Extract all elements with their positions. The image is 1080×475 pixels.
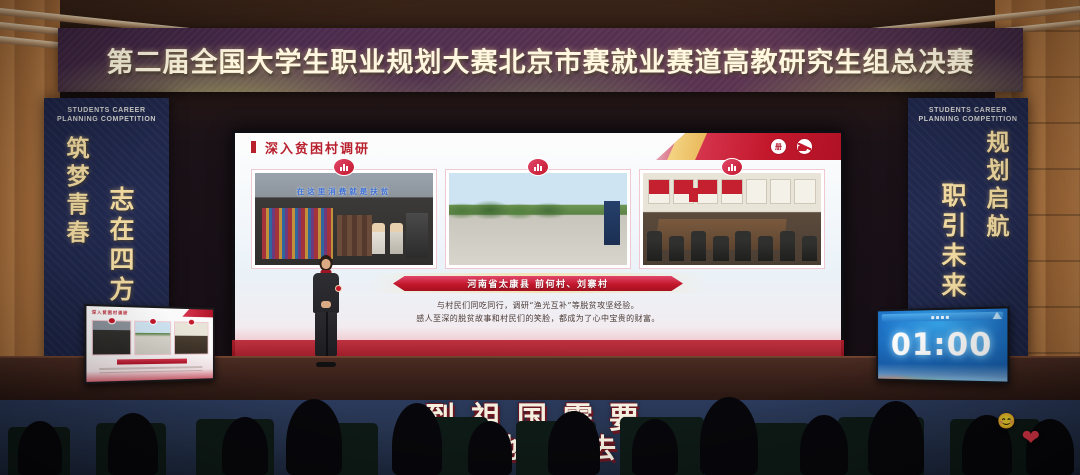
slide-location-ribbon: 河南省太康县 前何村、刘寨村	[393, 276, 683, 291]
slide-title: 深入贫困村调研	[265, 138, 370, 157]
presenter-number-badge	[335, 285, 342, 292]
side-banner-left-english-line1: STUDENTS CAREER	[44, 106, 169, 115]
side-banner-left-english: STUDENTS CAREER PLANNING COMPETITION	[44, 106, 169, 125]
side-banner-left-phrase-b: 志在四方	[102, 186, 138, 306]
confidence-monitor-ribbon	[117, 359, 187, 365]
side-banner-right-english-line1: STUDENTS CAREER	[908, 106, 1028, 115]
countdown-timer-value: 01:00	[878, 326, 1007, 364]
village-shop-photo-overlay: 在这里消费就是扶贫	[255, 186, 433, 197]
smiling-face-emoji-icon: 😊	[997, 414, 1016, 429]
side-banner-right-english: STUDENTS CAREER PLANNING COMPETITION	[908, 106, 1028, 125]
audience-silhouettes	[0, 370, 1080, 475]
slide-header: 册 深入贫困村调研	[235, 133, 841, 159]
university-seal-glyph: 册	[775, 142, 782, 152]
university-swoosh-logo	[796, 138, 813, 155]
side-banner-right-english-line2: PLANNING COMPETITION	[908, 115, 1028, 124]
confidence-photo-3	[174, 321, 209, 354]
confidence-monitor-photos	[92, 320, 209, 356]
side-banner-right-phrase-b: 职引未来	[934, 182, 970, 302]
heart-emoji-icon: ❤	[1022, 427, 1040, 449]
side-banner-left-phrase-a: 筑梦青春	[58, 136, 92, 248]
chart-badge-icon	[188, 319, 195, 326]
slide-photo-row: 在这里消费就是扶贫	[251, 169, 825, 269]
presenter-trousers	[315, 312, 337, 356]
university-seal-logo: 册	[770, 138, 787, 155]
confidence-photo-1	[92, 320, 131, 356]
chart-badge-icon	[721, 158, 743, 176]
event-title-banner: 第二届全国大学生职业规划大赛北京市赛就业赛道高教研究生组总决赛	[58, 28, 1023, 92]
slide-photo-card: 在这里消费就是扶贫	[251, 169, 437, 269]
slide-photo-card	[445, 169, 631, 269]
slide-header-ribbon	[656, 133, 841, 160]
event-title-text: 第二届全国大学生职业规划大赛北京市赛就业赛道高教研究生组总决赛	[58, 41, 1023, 80]
confidence-monitor-title: 深入贫困村调研	[92, 309, 128, 316]
chart-badge-icon	[108, 317, 116, 324]
presenter-speaker	[305, 255, 347, 363]
chart-badge-icon	[149, 318, 157, 325]
chart-badge-icon	[527, 158, 549, 176]
confidence-photo-2	[134, 321, 171, 356]
slide-photo-card	[639, 169, 825, 269]
presenter-shoes	[316, 362, 336, 367]
livestream-frame: 第二届全国大学生职业规划大赛北京市赛就业赛道高教研究生组总决赛 STUDENTS…	[0, 0, 1080, 475]
chart-badge-icon	[333, 158, 355, 176]
slide-location-text: 河南省太康县 前何村、刘寨村	[467, 277, 608, 290]
presenter-hands	[321, 301, 331, 308]
side-banner-left-english-line2: PLANNING COMPETITION	[44, 115, 169, 124]
presenter-face	[322, 259, 331, 269]
group-outdoor-photo	[449, 173, 627, 265]
village-shop-photo: 在这里消费就是扶贫	[255, 173, 433, 265]
swoosh-icon	[798, 143, 811, 151]
timer-topbar	[882, 312, 1003, 322]
meeting-room-photo	[643, 173, 821, 265]
confidence-monitor-header-ribbon	[182, 309, 213, 318]
slide-header-gold-accent	[667, 133, 707, 160]
side-banner-right-phrase-a: 规划启航	[978, 130, 1012, 242]
